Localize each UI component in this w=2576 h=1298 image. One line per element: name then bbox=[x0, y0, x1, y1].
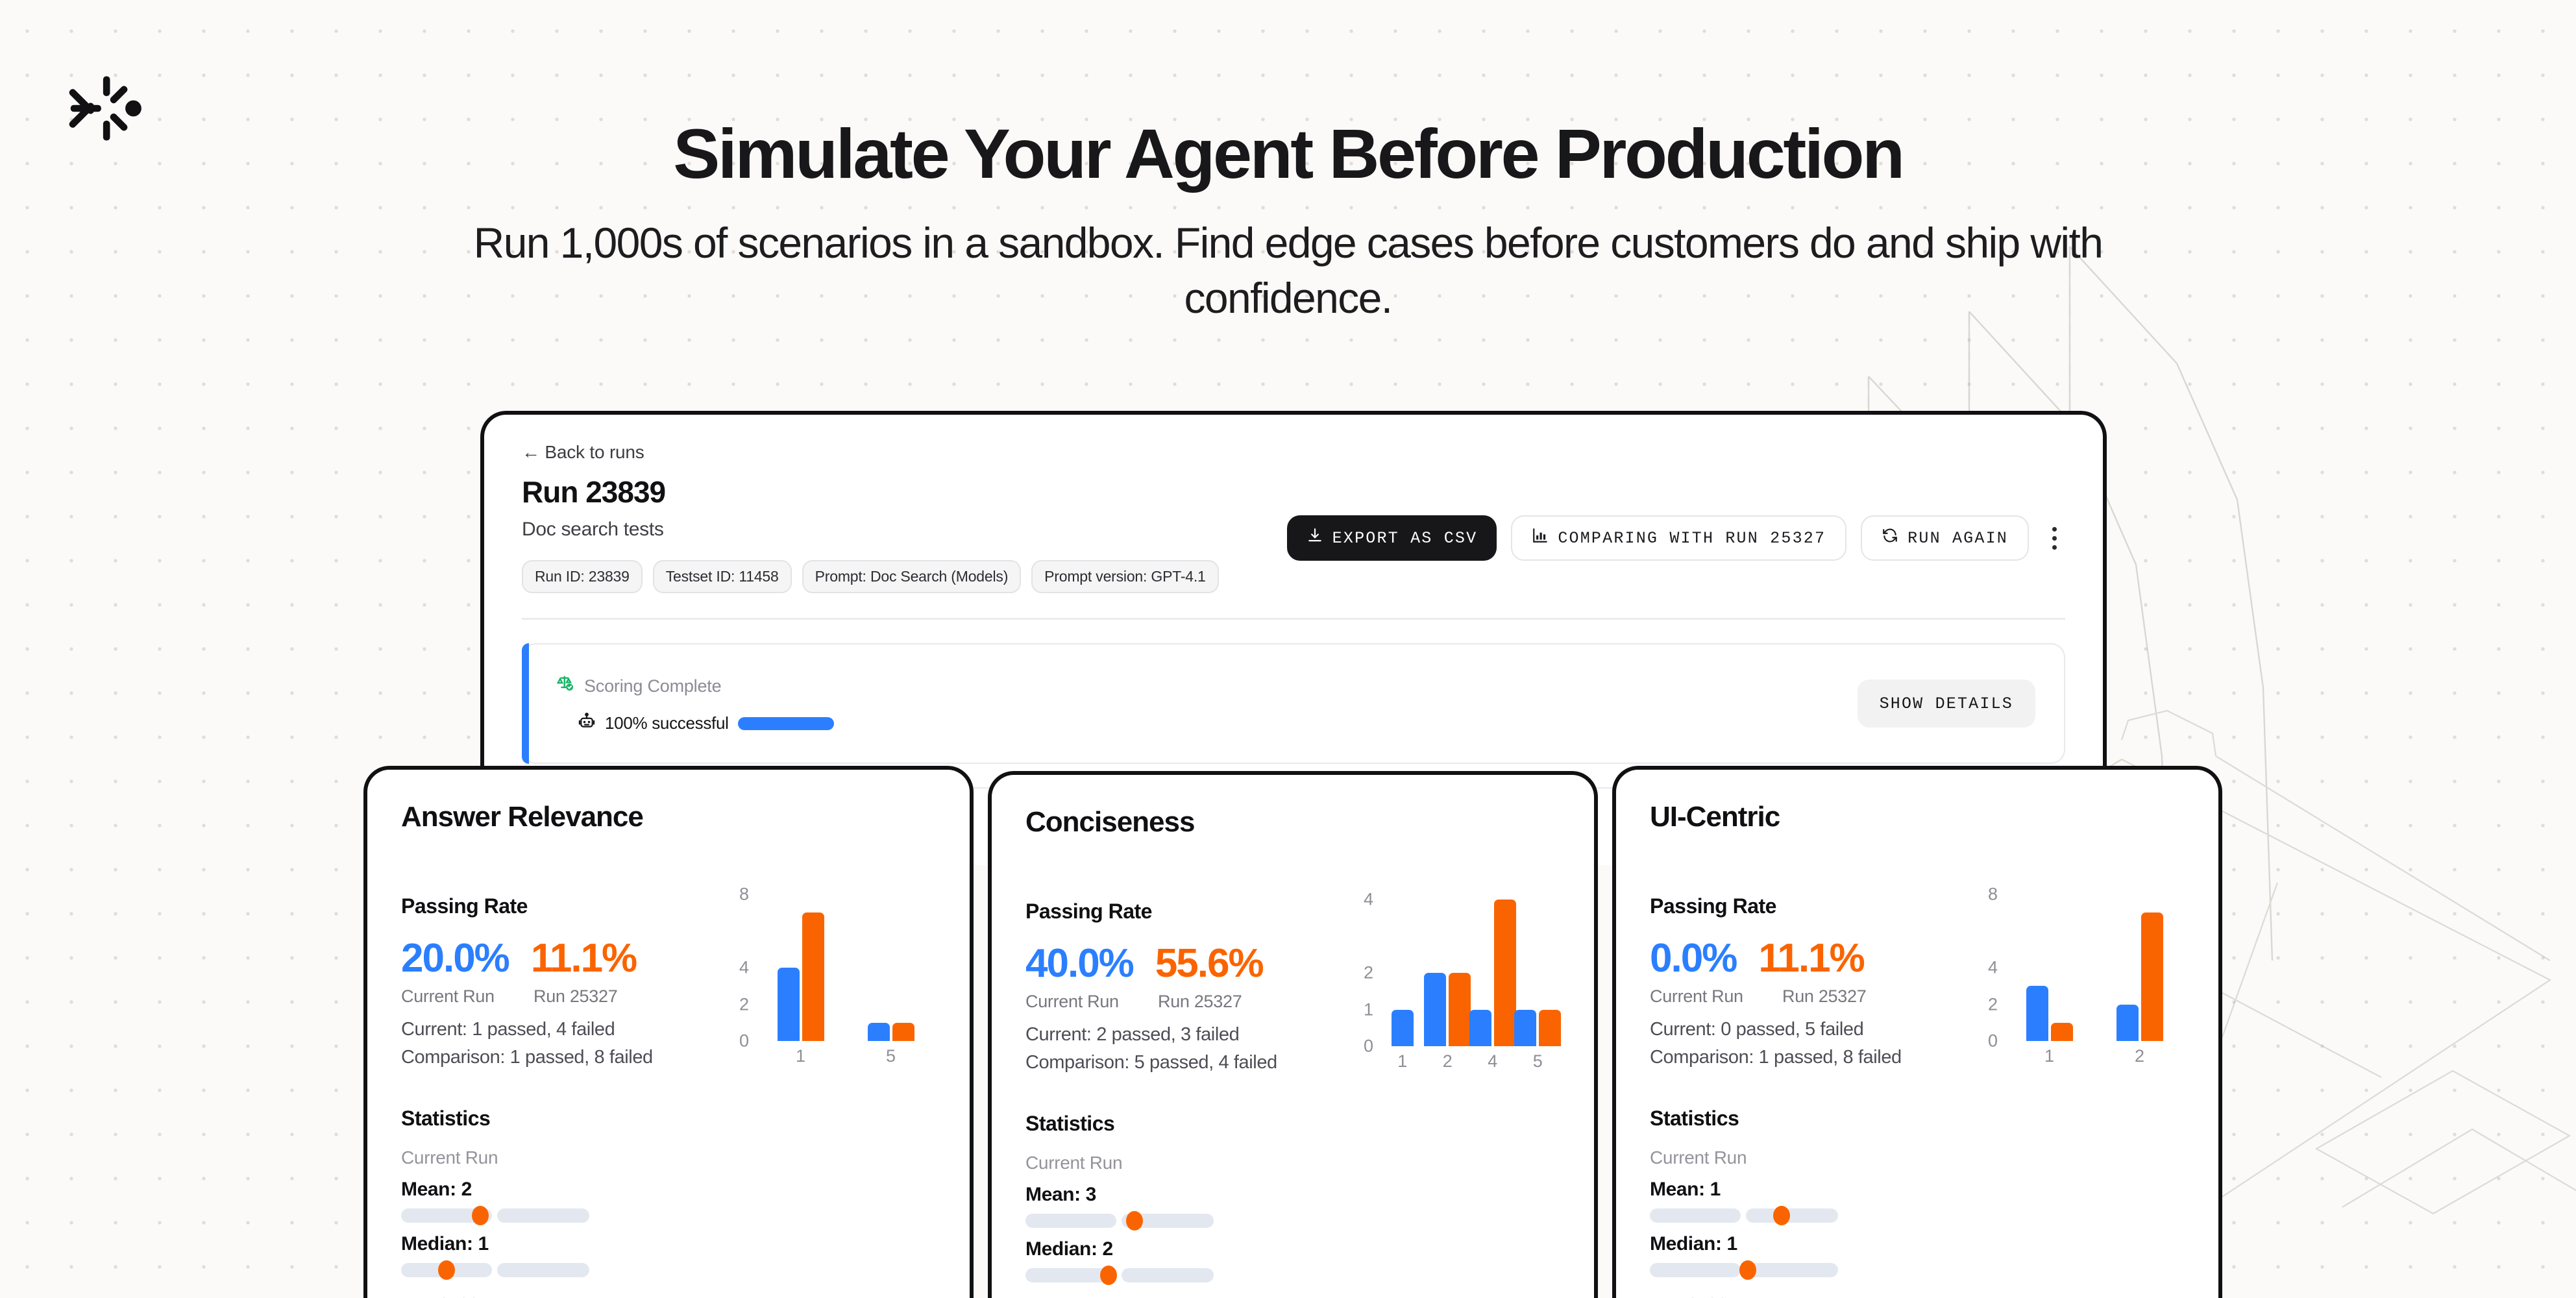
y-axis-tick: 0 bbox=[1988, 1031, 1998, 1051]
y-axis-tick: 1 bbox=[1364, 999, 1373, 1020]
comparison-passing-rate: 55.6% bbox=[1155, 940, 1263, 986]
show-details-button[interactable]: SHOW DETAILS bbox=[1858, 680, 2035, 728]
current-passing-rate: 20.0% bbox=[401, 935, 509, 981]
mean-slider[interactable] bbox=[401, 1208, 589, 1223]
run-header-actions: EXPORT AS CSV COMPARING WITH RUN 25327 bbox=[1287, 515, 2065, 561]
y-axis-tick: 8 bbox=[739, 885, 749, 905]
statistics-section: Statistics Current Run Mean: 3 Median: 2… bbox=[1025, 1112, 1560, 1298]
metric-card-conciseness: Conciseness Passing Rate 40.0% 55.6% Cur… bbox=[988, 771, 1598, 1298]
x-axis-tick: 2 bbox=[2135, 1046, 2144, 1066]
median-slider[interactable] bbox=[1650, 1263, 1838, 1277]
y-axis-tick: 4 bbox=[1364, 890, 1373, 910]
x-axis-tick: 5 bbox=[886, 1046, 896, 1066]
x-axis-tick: 1 bbox=[796, 1046, 805, 1066]
mean-label: Mean: 3 bbox=[1025, 1184, 1560, 1206]
comparison-run-legend: Run 25327 bbox=[1782, 986, 1866, 1007]
y-axis-tick: 4 bbox=[1988, 958, 1998, 978]
scoring-row-actions-current: SHOW DETAILS bbox=[1858, 680, 2035, 728]
comparison-counts: Comparison: 1 passed, 8 failed bbox=[1650, 1044, 1955, 1071]
chart-plot-area: 12 bbox=[2004, 894, 2185, 1041]
y-axis-tick: 0 bbox=[1364, 1036, 1373, 1057]
statistics-section: Statistics Current Run Mean: 2 Median: 1… bbox=[401, 1107, 936, 1298]
current-run-legend: Current Run bbox=[1650, 986, 1760, 1007]
current-passing-rate: 40.0% bbox=[1025, 940, 1133, 986]
scoring-progress-label: 100% successful bbox=[605, 713, 729, 733]
bar-chart-icon bbox=[1532, 527, 1549, 549]
scoring-progress-bar bbox=[738, 717, 834, 730]
y-axis-tick: 2 bbox=[739, 994, 749, 1014]
metric-card-title: Conciseness bbox=[1025, 806, 1560, 839]
page-subtitle: Run 1,000s of scenarios in a sandbox. Fi… bbox=[412, 215, 2165, 325]
chip-prompt-version: Prompt version: GPT-4.1 bbox=[1031, 560, 1219, 593]
chart-bar bbox=[2141, 912, 2163, 1041]
statistics-label: Statistics bbox=[1025, 1112, 1560, 1136]
comparison-run-legend: Run 25327 bbox=[1158, 992, 1242, 1012]
comparison-passing-rate: 11.1% bbox=[531, 935, 636, 981]
median-label: Median: 1 bbox=[1650, 1233, 2185, 1255]
chart-bar bbox=[1494, 900, 1516, 1046]
mean-slider[interactable] bbox=[1025, 1214, 1214, 1228]
chart-bar bbox=[2026, 986, 2048, 1041]
mean-label: Mean: 1 bbox=[1650, 1179, 2185, 1201]
statistics-section: Statistics Current Run Mean: 1 Median: 1… bbox=[1650, 1107, 2185, 1298]
download-icon bbox=[1306, 527, 1323, 549]
comparing-with-run-label: COMPARING WITH RUN 25327 bbox=[1558, 529, 1826, 548]
scoring-progress-current: 100% successful bbox=[578, 713, 2035, 734]
chart-bar bbox=[2116, 1005, 2139, 1042]
chart-bar-group: 1 bbox=[778, 912, 824, 1041]
run-metadata-chips: Run ID: 23839 Testset ID: 11458 Prompt: … bbox=[522, 560, 2065, 593]
current-run-legend: Current Run bbox=[401, 986, 511, 1007]
comparison-run-legend: Run 25327 bbox=[534, 986, 617, 1007]
statistics-label: Statistics bbox=[401, 1107, 936, 1131]
chart-bar bbox=[778, 968, 800, 1041]
chart-bar-group: 2 bbox=[1424, 973, 1471, 1046]
chart-bar-group: 5 bbox=[868, 1023, 914, 1041]
chart-bar bbox=[802, 912, 824, 1041]
chart-bar bbox=[1514, 1010, 1536, 1047]
score-distribution-chart: 024815 bbox=[715, 894, 936, 1063]
statistics-run-label: Run 25327 bbox=[401, 1294, 936, 1298]
metric-card-title: UI-Centric bbox=[1650, 801, 2185, 833]
chart-plot-area: 1245 bbox=[1380, 900, 1560, 1046]
comparison-counts: Comparison: 1 passed, 8 failed bbox=[401, 1044, 706, 1071]
x-axis-tick: 2 bbox=[1443, 1051, 1453, 1071]
passing-rate-label: Passing Rate bbox=[1025, 900, 1331, 924]
panel-divider bbox=[522, 618, 2065, 620]
more-vertical-icon[interactable] bbox=[2043, 515, 2065, 561]
median-slider[interactable] bbox=[1025, 1268, 1214, 1282]
refresh-icon bbox=[1882, 527, 1898, 549]
x-axis-tick: 5 bbox=[1533, 1051, 1543, 1071]
scoring-row-current: Scoring Complete 100% successful SHOW DE… bbox=[522, 643, 2065, 764]
median-label: Median: 1 bbox=[401, 1233, 936, 1255]
passing-rate-label: Passing Rate bbox=[401, 894, 706, 918]
chart-bar bbox=[1392, 1010, 1414, 1047]
comparing-with-run-button[interactable]: COMPARING WITH RUN 25327 bbox=[1511, 515, 1846, 561]
robot-icon bbox=[578, 713, 596, 734]
metric-card-answer-relevance: Answer Relevance Passing Rate 20.0% 11.1… bbox=[363, 766, 974, 1298]
page-title: Simulate Your Agent Before Production bbox=[0, 117, 2576, 191]
hero-section: Simulate Your Agent Before Production Ru… bbox=[0, 117, 2576, 325]
chart-bar bbox=[892, 1023, 914, 1041]
current-counts: Current: 0 passed, 5 failed bbox=[1650, 1016, 1955, 1044]
metric-card-title: Answer Relevance bbox=[401, 801, 936, 833]
passing-rate-label: Passing Rate bbox=[1650, 894, 1955, 918]
chart-bar-group: 2 bbox=[2116, 912, 2163, 1041]
scoring-status-label: Scoring Complete bbox=[584, 676, 721, 696]
mean-slider[interactable] bbox=[1650, 1208, 1838, 1223]
score-distribution-chart: 01241245 bbox=[1340, 900, 1560, 1068]
comparison-counts: Comparison: 5 passed, 4 failed bbox=[1025, 1049, 1331, 1077]
chip-run-id: Run ID: 23839 bbox=[522, 560, 643, 593]
chart-bar bbox=[1539, 1010, 1561, 1047]
median-slider[interactable] bbox=[401, 1263, 589, 1277]
export-as-csv-button[interactable]: EXPORT AS CSV bbox=[1287, 515, 1497, 561]
scoring-status-current: Scoring Complete bbox=[556, 674, 2035, 698]
chart-bar bbox=[1449, 973, 1471, 1046]
chart-bar bbox=[1424, 973, 1446, 1046]
chart-bar-group: 5 bbox=[1514, 1010, 1561, 1047]
back-to-runs-link[interactable]: ← Back to runs bbox=[522, 442, 644, 463]
x-axis-tick: 4 bbox=[1488, 1051, 1497, 1071]
statistics-run-label: Current Run bbox=[1650, 1147, 2185, 1168]
statistics-run-label: Current Run bbox=[401, 1147, 936, 1168]
current-passing-rate: 0.0% bbox=[1650, 935, 1736, 981]
current-run-legend: Current Run bbox=[1025, 992, 1136, 1012]
chart-bar bbox=[1469, 1010, 1491, 1047]
export-as-csv-label: EXPORT AS CSV bbox=[1332, 529, 1478, 548]
chart-bar bbox=[868, 1023, 890, 1041]
statistics-label: Statistics bbox=[1650, 1107, 2185, 1131]
chip-testset-id: Testset ID: 11458 bbox=[653, 560, 792, 593]
score-distribution-chart: 024812 bbox=[1964, 894, 2185, 1063]
y-axis-tick: 2 bbox=[1364, 963, 1373, 983]
page-root: SCORE DISTRIBUTION Simulate Your Agent B… bbox=[0, 0, 2576, 1298]
run-title: Run 23839 bbox=[522, 474, 2065, 509]
statistics-run-label: Run 25327 bbox=[1650, 1294, 2185, 1298]
y-axis-tick: 2 bbox=[1988, 994, 1998, 1014]
run-again-button[interactable]: RUN AGAIN bbox=[1861, 515, 2029, 561]
median-label: Median: 2 bbox=[1025, 1238, 1560, 1260]
chart-bar bbox=[2051, 1023, 2073, 1041]
current-counts: Current: 2 passed, 3 failed bbox=[1025, 1021, 1331, 1049]
scales-check-icon bbox=[556, 674, 575, 698]
statistics-run-label: Current Run bbox=[1025, 1153, 1560, 1173]
metric-card-list: Answer Relevance Passing Rate 20.0% 11.1… bbox=[363, 766, 2222, 1298]
current-counts: Current: 1 passed, 4 failed bbox=[401, 1016, 706, 1044]
y-axis-tick: 4 bbox=[739, 958, 749, 978]
comparison-passing-rate: 11.1% bbox=[1758, 935, 1863, 981]
y-axis-tick: 0 bbox=[739, 1031, 749, 1051]
x-axis-tick: 1 bbox=[1397, 1051, 1407, 1071]
chart-bar-group: 1 bbox=[1392, 1010, 1414, 1047]
chart-plot-area: 15 bbox=[755, 894, 936, 1041]
metric-card-ui-centric: UI-Centric Passing Rate 0.0% 11.1% Curre… bbox=[1612, 766, 2222, 1298]
chip-prompt: Prompt: Doc Search (Models) bbox=[802, 560, 1022, 593]
chart-bar-group: 1 bbox=[2026, 986, 2073, 1041]
chart-bar-group: 4 bbox=[1469, 900, 1516, 1046]
run-again-label: RUN AGAIN bbox=[1907, 529, 2008, 548]
mean-label: Mean: 2 bbox=[401, 1179, 936, 1201]
x-axis-tick: 1 bbox=[2044, 1046, 2054, 1066]
y-axis-tick: 8 bbox=[1988, 885, 1998, 905]
